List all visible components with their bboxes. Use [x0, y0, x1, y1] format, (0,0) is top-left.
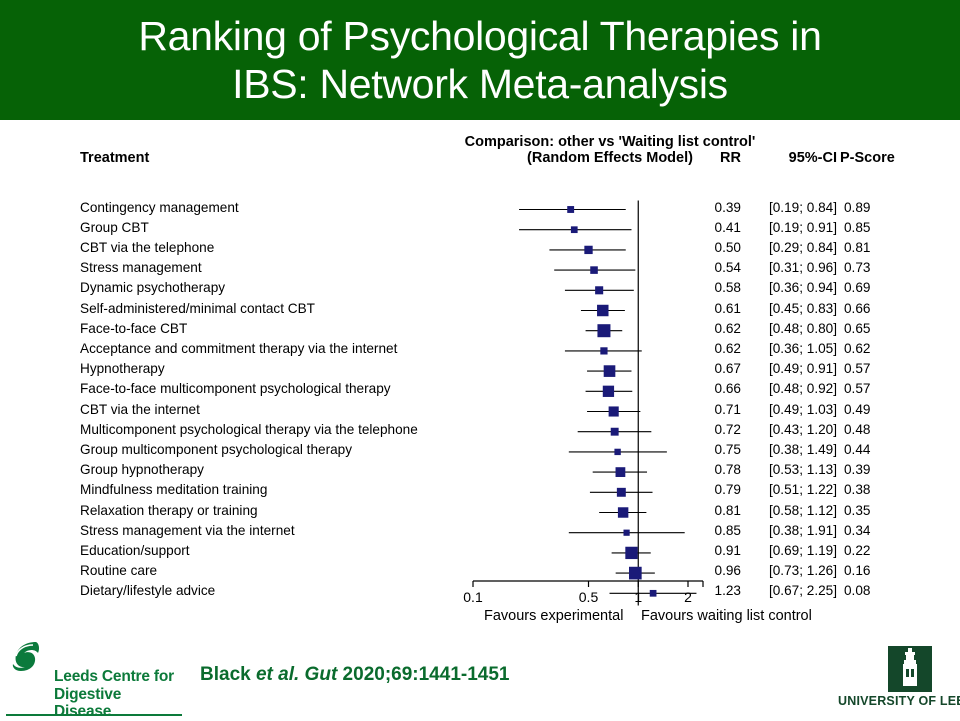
- point-estimate-marker: [597, 305, 608, 316]
- citation-volume: 2020;69:1441-1451: [337, 664, 509, 685]
- point-estimate-marker: [609, 406, 619, 416]
- x-axis-tick-label: 0.5: [564, 589, 614, 605]
- citation-text: Black et al. Gut 2020;69:1441-1451: [200, 664, 509, 686]
- point-estimate-marker: [595, 286, 603, 294]
- point-estimate-marker: [600, 347, 607, 354]
- x-axis-tick-label: 0.1: [448, 589, 498, 605]
- point-estimate-marker: [616, 467, 626, 477]
- lcdd-logo-text: Leeds Centre for Digestive Disease: [54, 668, 182, 721]
- point-estimate-marker: [614, 449, 620, 455]
- forest-plot-graphics: [0, 120, 960, 640]
- point-estimate-marker: [629, 567, 642, 580]
- slide-footer: Leeds Centre for Digestive Disease Black…: [0, 640, 960, 720]
- x-axis-tick-label: 2: [663, 589, 713, 605]
- forest-plot: Treatment Comparison: other vs 'Waiting …: [0, 120, 960, 640]
- point-estimate-marker: [604, 365, 616, 377]
- leeds-centre-digestive-disease-logo: Leeds Centre for Digestive Disease: [6, 640, 182, 714]
- slide-title-banner: Ranking of Psychological Therapies in IB…: [0, 0, 960, 120]
- lcdd-line-1: Leeds Centre for: [54, 668, 182, 686]
- lcdd-logo-divider: [6, 714, 182, 716]
- point-estimate-marker: [603, 386, 614, 397]
- favours-experimental-label: Favours experimental: [484, 608, 623, 624]
- point-estimate-marker: [597, 324, 610, 337]
- citation-author: Black: [200, 664, 256, 685]
- point-estimate-marker: [618, 507, 628, 517]
- point-estimate-marker: [625, 547, 637, 559]
- citation-journal: et al. Gut: [256, 664, 337, 685]
- point-estimate-marker: [611, 428, 619, 436]
- university-of-leeds-text: UNIVERSITY OF LEEDS: [838, 694, 960, 708]
- point-estimate-marker: [571, 226, 578, 233]
- point-estimate-marker: [617, 488, 626, 497]
- stomach-icon: [6, 640, 54, 674]
- slide-title-line-2: IBS: Network Meta-analysis: [232, 60, 728, 108]
- point-estimate-marker: [584, 246, 592, 254]
- point-estimate-marker: [623, 530, 629, 536]
- favours-control-label: Favours waiting list control: [641, 608, 812, 624]
- x-axis-tick-label: 1: [613, 589, 663, 605]
- point-estimate-marker: [590, 266, 598, 274]
- slide-title-line-1: Ranking of Psychological Therapies in: [138, 12, 821, 60]
- point-estimate-marker: [567, 206, 574, 213]
